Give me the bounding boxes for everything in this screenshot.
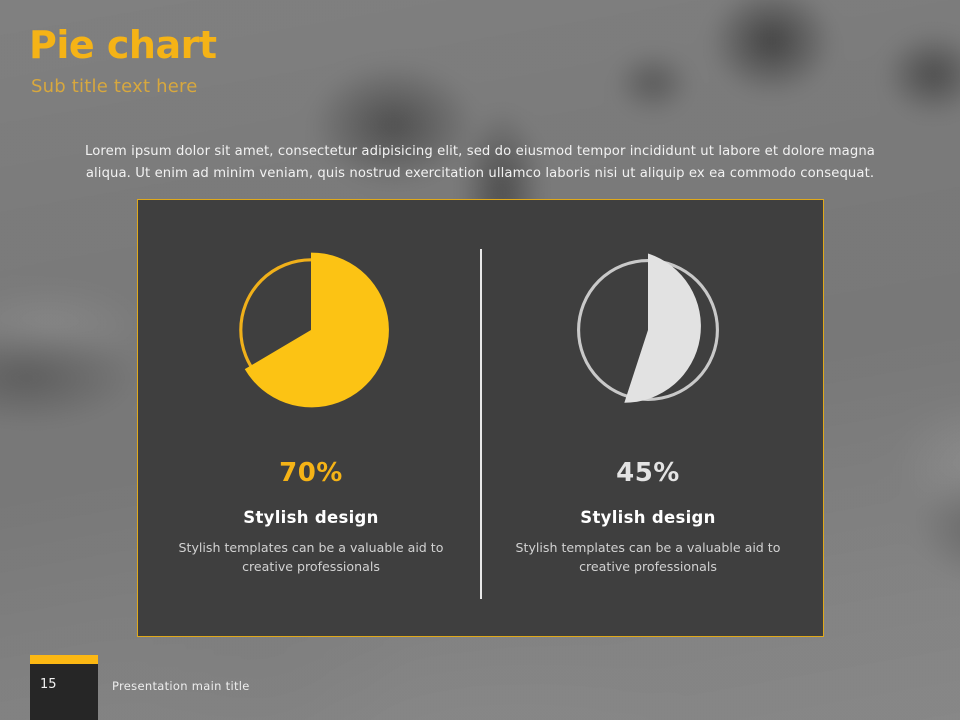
intro-paragraph: Lorem ipsum dolor sit amet, consectetur … xyxy=(62,141,898,185)
content-panel: 70% Stylish design Stylish templates can… xyxy=(137,199,824,637)
accent-bar xyxy=(30,655,98,664)
left-stat-description: Stylish templates can be a valuable aid … xyxy=(146,538,476,576)
page-title: Pie chart xyxy=(29,25,217,67)
right-stat-heading: Stylish design xyxy=(483,508,813,527)
page-number: 15 xyxy=(40,677,57,692)
left-pie-value-label: 70% xyxy=(146,458,476,488)
column-divider xyxy=(480,249,482,599)
right-pie-value-label: 45% xyxy=(483,458,813,488)
slide-canvas: Pie chart Sub title text here Lorem ipsu… xyxy=(0,0,960,720)
page-subtitle: Sub title text here xyxy=(31,76,198,97)
right-stat-description: Stylish templates can be a valuable aid … xyxy=(483,538,813,576)
pie-chart-icon-left xyxy=(221,240,401,420)
page-number-box: 15 xyxy=(30,655,98,720)
left-pie-chart-wrapper xyxy=(146,230,476,430)
stat-column-left: 70% Stylish design Stylish templates can… xyxy=(146,230,476,576)
left-stat-heading: Stylish design xyxy=(146,508,476,527)
right-pie-chart-wrapper xyxy=(483,230,813,430)
stat-column-right: 45% Stylish design Stylish templates can… xyxy=(483,230,813,576)
pie-chart-icon-right xyxy=(559,241,737,419)
footer-title: Presentation main title xyxy=(112,679,250,693)
